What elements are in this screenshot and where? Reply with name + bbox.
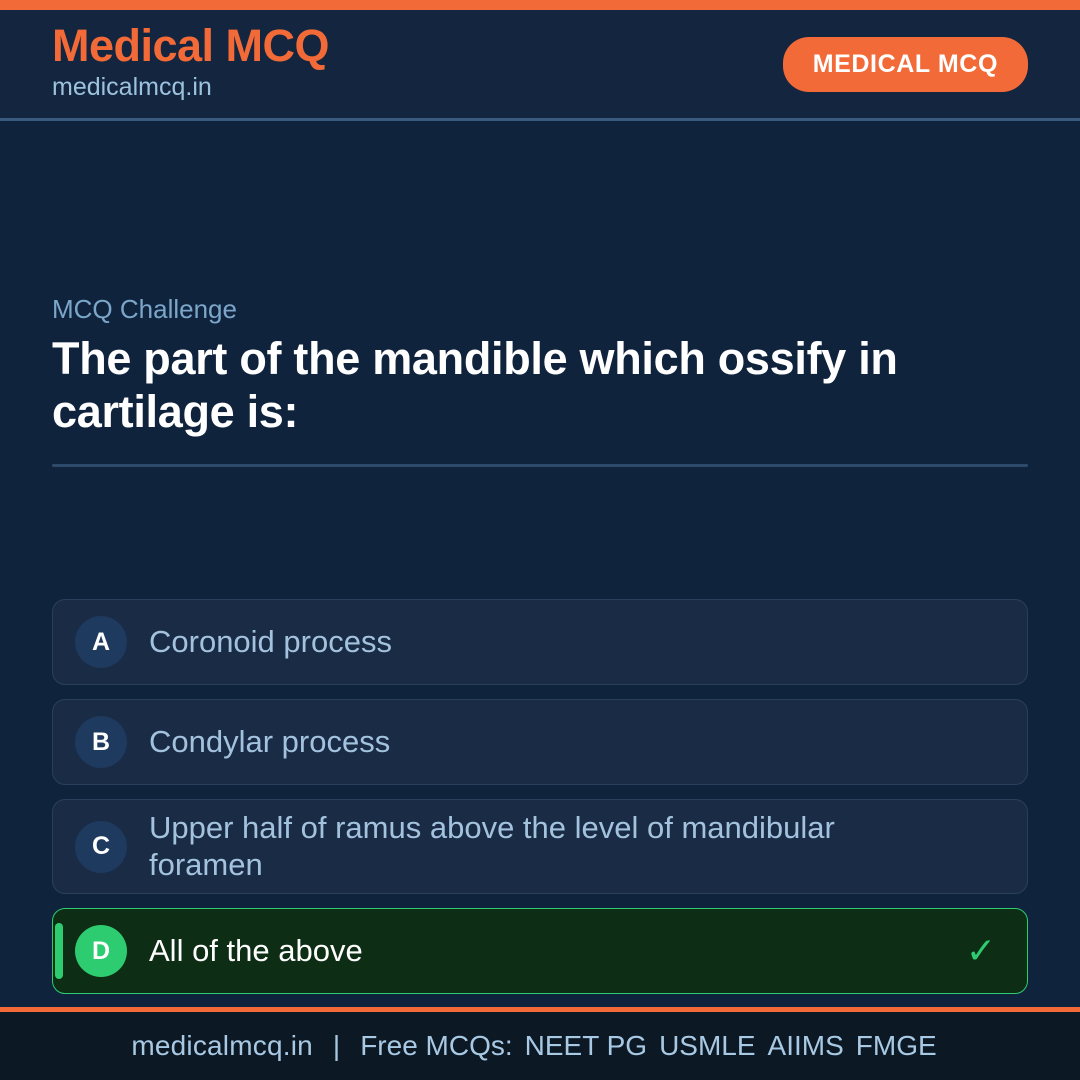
correct-accent-bar	[55, 923, 63, 979]
option-d-text: All of the above	[149, 933, 961, 970]
footer-site[interactable]: medicalmcq.in	[131, 1030, 313, 1062]
option-b[interactable]: B Condylar process	[52, 699, 1028, 785]
question-text: The part of the mandible which ossify in…	[52, 333, 1028, 438]
brand: Medical MCQ medicalmcq.in	[52, 23, 329, 105]
brand-title: Medical MCQ	[52, 23, 329, 68]
question-divider	[52, 464, 1028, 467]
header-badge: MEDICAL MCQ	[783, 37, 1028, 92]
brand-subtitle: medicalmcq.in	[52, 71, 329, 105]
option-d-correct[interactable]: D All of the above ✓	[52, 908, 1028, 994]
footer-tags-label: Free MCQs:	[360, 1030, 524, 1061]
footer-tag-aiims[interactable]: AIIMS	[768, 1030, 856, 1061]
option-a-text: Coronoid process	[149, 624, 961, 661]
option-b-letter: B	[75, 716, 127, 768]
option-d-letter: D	[75, 925, 127, 977]
footer-tag-usmle[interactable]: USMLE	[659, 1030, 767, 1061]
footer-separator: |	[313, 1030, 360, 1062]
option-c-letter: C	[75, 821, 127, 873]
question-block: MCQ Challenge The part of the mandible w…	[52, 294, 1028, 467]
footer: medicalmcq.in | Free MCQs:NEET PGUSMLEAI…	[0, 1012, 1080, 1080]
question-kicker: MCQ Challenge	[52, 294, 1028, 325]
footer-tags: Free MCQs:NEET PGUSMLEAIIMSFMGE	[360, 1030, 948, 1062]
option-b-text: Condylar process	[149, 724, 961, 761]
header: Medical MCQ medicalmcq.in MEDICAL MCQ	[0, 10, 1080, 121]
mcq-card: Medical MCQ medicalmcq.in MEDICAL MCQ MC…	[0, 0, 1080, 1080]
option-a[interactable]: A Coronoid process	[52, 599, 1028, 685]
option-c-text: Upper half of ramus above the level of m…	[149, 810, 961, 883]
footer-tag-fmge[interactable]: FMGE	[856, 1030, 949, 1061]
top-accent-bar	[0, 0, 1080, 10]
footer-tag-neet-pg[interactable]: NEET PG	[525, 1030, 659, 1061]
main-content: MCQ Challenge The part of the mandible w…	[0, 121, 1080, 1007]
option-a-letter: A	[75, 616, 127, 668]
check-icon: ✓	[961, 933, 1001, 969]
options-list: A Coronoid process B Condylar process C …	[52, 599, 1028, 994]
option-c[interactable]: C Upper half of ramus above the level of…	[52, 799, 1028, 894]
